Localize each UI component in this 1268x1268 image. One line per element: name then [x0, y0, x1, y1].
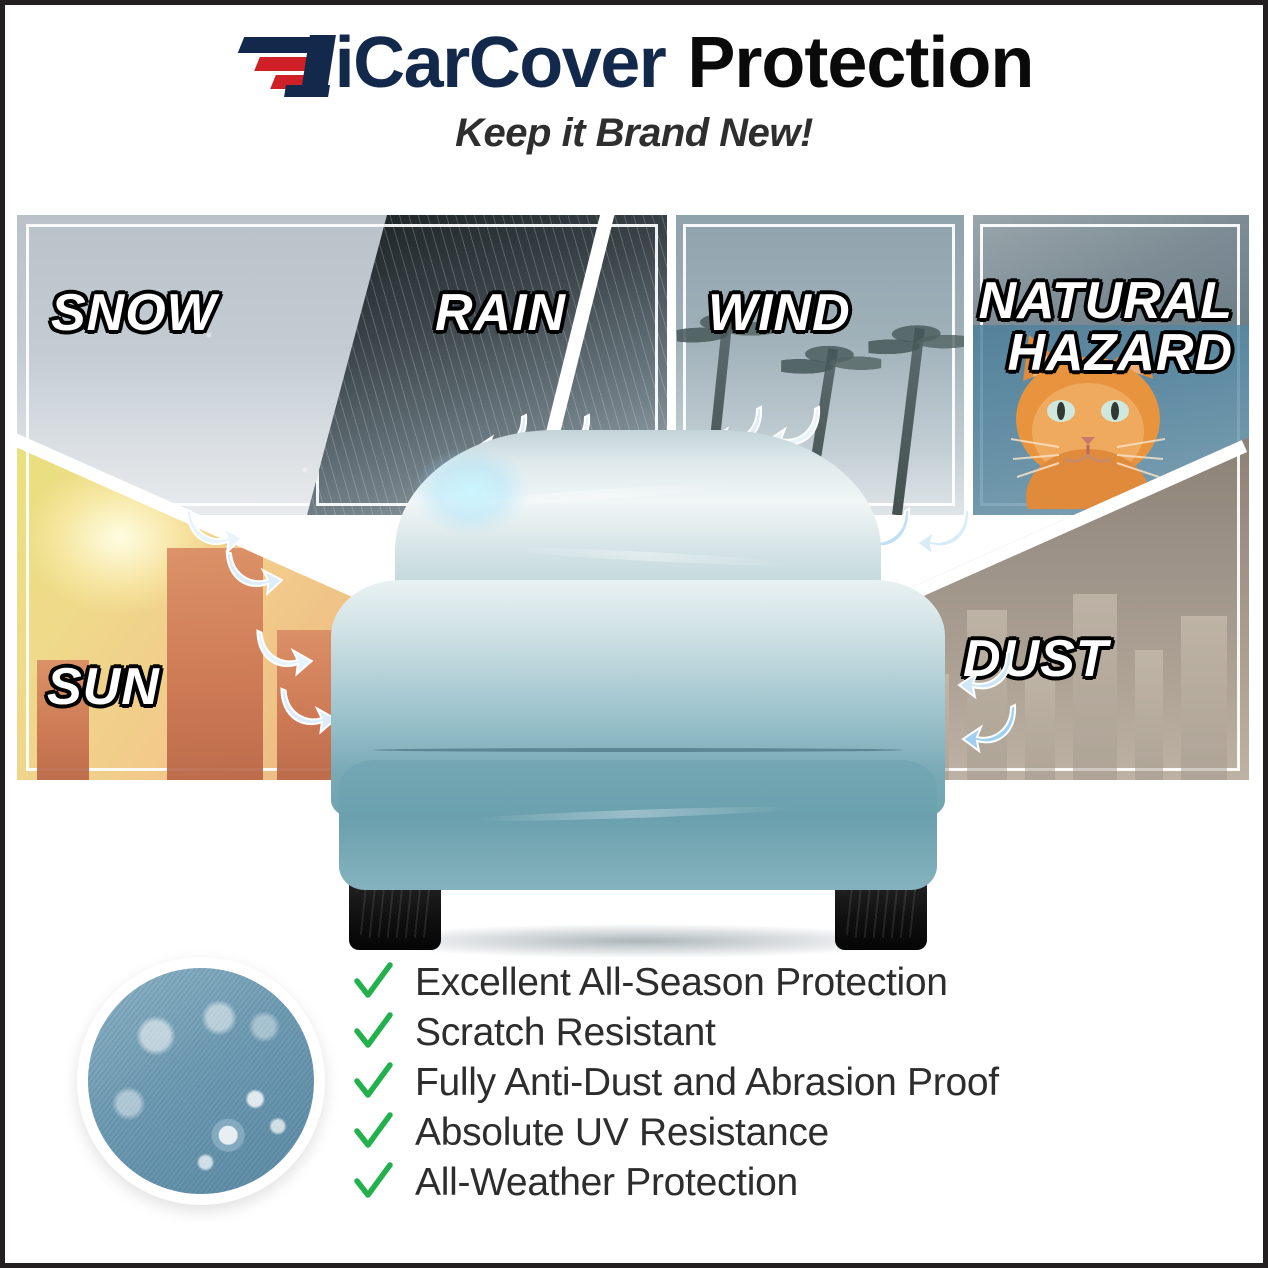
water-droplet-swatch — [77, 957, 325, 1205]
feature-label: All-Weather Protection — [415, 1160, 798, 1206]
title-row: iCarCover Protection — [5, 27, 1263, 99]
curved-deflection-arrow-icon — [961, 701, 1019, 755]
palm-fronds — [781, 342, 882, 396]
car-shadow — [363, 924, 913, 958]
green-checkmark-icon — [353, 1161, 393, 1205]
panel-separator — [964, 215, 973, 517]
panel-label-rain: RAIN — [435, 287, 566, 339]
curved-deflection-arrow-icon — [957, 647, 1015, 701]
list-item: Scratch Resistant — [353, 1010, 1173, 1056]
building-shape — [1181, 616, 1227, 780]
feature-label: Scratch Resistant — [415, 1010, 716, 1056]
green-checkmark-icon — [353, 1061, 393, 1105]
list-item: Fully Anti-Dust and Abrasion Proof — [353, 1060, 1173, 1106]
green-checkmark-icon — [353, 1011, 393, 1055]
covered-car-image — [323, 430, 953, 950]
brand-name: iCarCover — [335, 27, 666, 99]
panel-label-wind: WIND — [708, 287, 851, 339]
product-infographic: iCarCover Protection Keep it Brand New! … — [0, 0, 1268, 1268]
shine-sparkle-icon — [411, 446, 531, 536]
feature-label: Absolute UV Resistance — [415, 1110, 829, 1156]
icarcover-wing-logo-icon — [235, 27, 333, 99]
list-item: Excellent All-Season Protection — [353, 960, 1173, 1006]
panel-label-sun: SUN — [47, 661, 160, 713]
green-checkmark-icon — [353, 961, 393, 1005]
green-checkmark-icon — [353, 1111, 393, 1155]
panel-label-natural-hazard: NATURAL HAZARD — [979, 275, 1233, 379]
water-droplets-on-fabric-closeup-icon — [88, 968, 314, 1194]
page-title: Protection — [687, 27, 1033, 99]
car-cover-bumper — [339, 760, 937, 890]
panel-label-line2: HAZARD — [979, 327, 1233, 379]
palm-fronds — [868, 322, 964, 376]
curved-deflection-arrow-icon — [222, 542, 285, 602]
list-item: All-Weather Protection — [353, 1160, 1173, 1206]
header: iCarCover Protection Keep it Brand New! — [5, 27, 1263, 156]
curved-deflection-arrow-icon — [253, 623, 315, 681]
feature-label: Fully Anti-Dust and Abrasion Proof — [415, 1060, 999, 1106]
panel-label-line1: NATURAL — [979, 275, 1233, 327]
feature-list: Excellent All-Season Protection Scratch … — [353, 960, 1173, 1210]
cover-seam — [373, 748, 903, 752]
panel-label-snow: SNOW — [51, 287, 217, 339]
list-item: Absolute UV Resistance — [353, 1110, 1173, 1156]
tagline: Keep it Brand New! — [5, 111, 1263, 156]
building-shape — [1135, 650, 1163, 780]
feature-label: Excellent All-Season Protection — [415, 960, 948, 1006]
